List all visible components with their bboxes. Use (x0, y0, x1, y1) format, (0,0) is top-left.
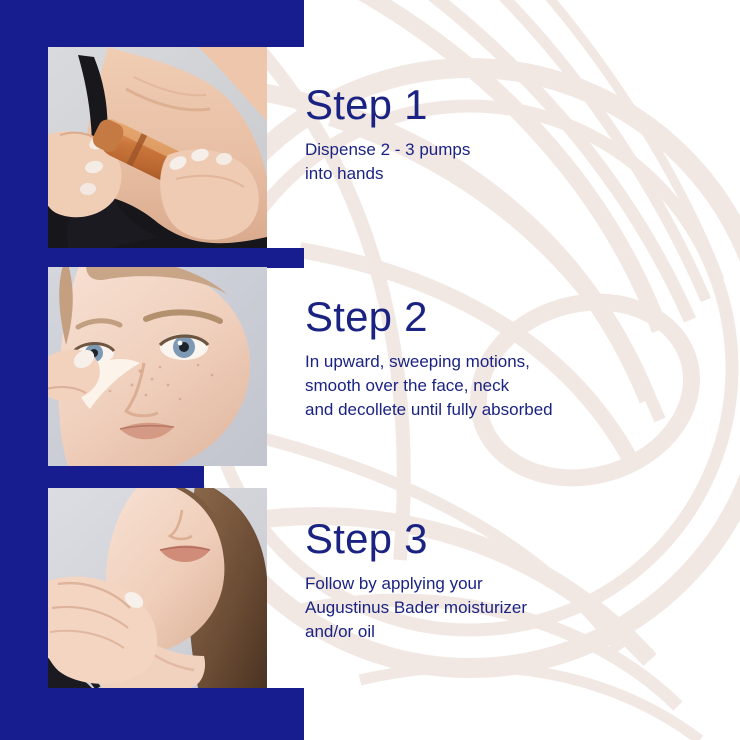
step-3-body: Follow by applying your Augustinus Bader… (305, 572, 527, 644)
step-3-body-line-2: Augustinus Bader moisturizer (305, 596, 527, 620)
step-2-photo (48, 267, 267, 466)
step-1-block: Step 1 Dispense 2 - 3 pumps into hands (305, 84, 470, 186)
step-3-body-line-1: Follow by applying your (305, 572, 527, 596)
step-2-body-line-2: smooth over the face, neck (305, 374, 553, 398)
instruction-card: Step 1 Dispense 2 - 3 pumps into hands S… (0, 0, 740, 740)
step-2-block: Step 2 In upward, sweeping motions, smoo… (305, 296, 553, 422)
step-2-body: In upward, sweeping motions, smooth over… (305, 350, 553, 422)
step-3-title: Step 3 (305, 518, 527, 560)
step-1-photo (48, 47, 267, 248)
blue-strip-bottom (0, 688, 304, 740)
step-3-photo (48, 488, 267, 688)
blue-strip-top (0, 0, 304, 47)
step-1-body-line-1: Dispense 2 - 3 pumps (305, 138, 470, 162)
step-3-block: Step 3 Follow by applying your Augustinu… (305, 518, 527, 644)
step-3-body-line-3: and/or oil (305, 620, 527, 644)
step-2-title: Step 2 (305, 296, 553, 338)
step-2-body-line-1: In upward, sweeping motions, (305, 350, 553, 374)
step-1-title: Step 1 (305, 84, 470, 126)
step-1-body: Dispense 2 - 3 pumps into hands (305, 138, 470, 186)
step-1-body-line-2: into hands (305, 162, 470, 186)
blue-strip-between-1-2 (0, 248, 304, 268)
step-2-body-line-3: and decollete until fully absorbed (305, 398, 553, 422)
